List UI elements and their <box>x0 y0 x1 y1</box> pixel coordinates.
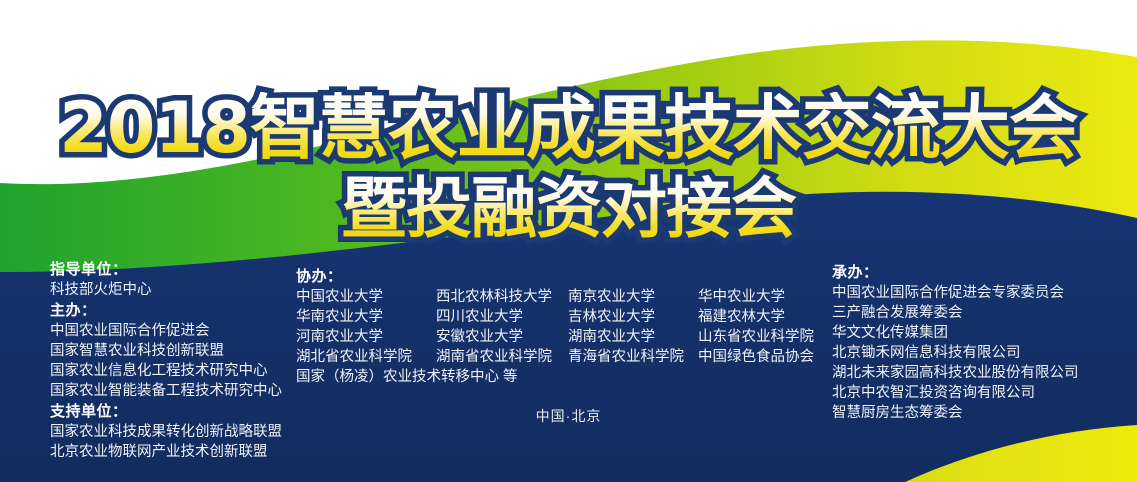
middle-row-0: 中国农业大学 西北农林科技大学 南京农业大学 华中农业大学 <box>296 287 816 307</box>
right-item-4: 湖北未来家园高科技农业股份有限公司 <box>832 363 1132 383</box>
right-item-1: 三产融合发展筹委会 <box>832 303 1132 323</box>
left-section-0-heading: 指导单位： <box>50 259 295 280</box>
right-heading: 承办： <box>832 262 1132 283</box>
middle-row-1-col-2: 吉林农业大学 <box>568 307 698 327</box>
middle-row-1: 华南农业大学 四川农业大学 吉林农业大学 福建农林大学 <box>296 307 816 327</box>
right-item-3: 北京锄禾网信息科技有限公司 <box>832 343 1132 363</box>
middle-row-3-col-2: 青海省农业科学院 <box>568 347 698 367</box>
middle-heading: 协办： <box>296 266 816 287</box>
right-item-2: 华文文化传媒集团 <box>832 323 1132 343</box>
left-section-1-heading: 主办： <box>50 300 295 321</box>
right-item-0: 中国农业国际合作促进会专家委员会 <box>832 283 1132 303</box>
middle-row-0-col-3: 华中农业大学 <box>698 287 785 307</box>
left-section-1-item-1: 国家智慧农业科技创新联盟 <box>50 341 295 361</box>
left-section-1-item-3: 国家农业智能装备工程技术研究中心 <box>50 381 295 401</box>
credits-column-right: 承办： 中国农业国际合作促进会专家委员会 三产融合发展筹委会 华文文化传媒集团 … <box>832 262 1132 423</box>
middle-row-1-col-1: 四川农业大学 <box>436 307 568 327</box>
credits-column-left: 指导单位： 科技部火炬中心 主办： 中国农业国际合作促进会 国家智慧农业科技创新… <box>50 259 295 462</box>
middle-row-2-col-2: 湖南农业大学 <box>568 327 698 347</box>
middle-row-1-col-0: 华南农业大学 <box>296 307 436 327</box>
middle-row-2: 河南农业大学 安徽农业大学 湖南农业大学 山东省农业科学院 <box>296 327 816 347</box>
credits-column-middle: 协办： 中国农业大学 西北农林科技大学 南京农业大学 华中农业大学 华南农业大学… <box>296 266 816 387</box>
left-section-2-item-1: 北京农业物联网产业技术创新联盟 <box>50 442 295 462</box>
middle-row-3: 湖北省农业科学院 湖南省农业科学院 青海省农业科学院 中国绿色食品协会 <box>296 347 816 367</box>
right-item-5: 北京中农智汇投资咨询有限公司 <box>832 383 1132 403</box>
venue-label: 中国·北京 <box>0 406 1137 426</box>
left-section-0-item-0: 科技部火炬中心 <box>50 280 295 300</box>
middle-last-line: 国家（杨凌）农业技术转移中心 等 <box>296 367 816 387</box>
middle-row-3-col-1: 湖南省农业科学院 <box>436 347 568 367</box>
conference-banner: 2018智慧农业成果技术交流大会 2018智慧农业成果技术交流大会 暨投融资对接… <box>0 0 1137 482</box>
left-section-1-item-0: 中国农业国际合作促进会 <box>50 321 295 341</box>
middle-row-3-col-0: 湖北省农业科学院 <box>296 347 436 367</box>
middle-row-0-col-2: 南京农业大学 <box>568 287 698 307</box>
middle-row-2-col-0: 河南农业大学 <box>296 327 436 347</box>
middle-row-2-col-1: 安徽农业大学 <box>436 327 568 347</box>
middle-row-0-col-0: 中国农业大学 <box>296 287 436 307</box>
middle-row-3-col-3: 中国绿色食品协会 <box>698 347 814 367</box>
middle-row-1-col-3: 福建农林大学 <box>698 307 785 327</box>
middle-row-0-col-1: 西北农林科技大学 <box>436 287 568 307</box>
middle-row-2-col-3: 山东省农业科学院 <box>698 327 814 347</box>
left-section-1-item-2: 国家农业信息化工程技术研究中心 <box>50 361 295 381</box>
